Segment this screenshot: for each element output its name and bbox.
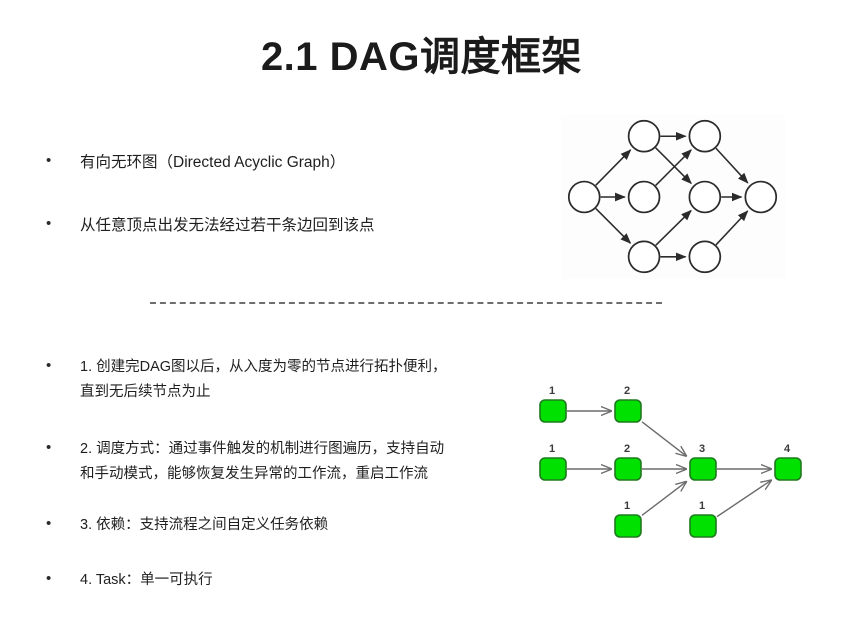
task-node: [540, 400, 566, 422]
dag-edge: [656, 211, 691, 246]
bullet-item-dag-definition: • 有向无环图（Directed Acyclic Graph）: [46, 150, 516, 175]
task-node-label: 4: [784, 443, 791, 455]
task-node: [615, 515, 641, 537]
section-divider: [150, 302, 662, 304]
bullet-text: 4. Task：单一可执行: [80, 568, 213, 593]
page-title: 2.1 DAG调度框架: [0, 24, 843, 82]
dag-graph-figure: [561, 115, 785, 279]
task-node: [775, 458, 801, 480]
bullet-marker-icon: •: [46, 355, 60, 377]
dag-node: [689, 182, 720, 213]
task-node-group: 12123411: [540, 385, 801, 537]
dag-node-group: [569, 121, 776, 272]
bullet-text: 3. 依赖：支持流程之间自定义任务依赖: [80, 513, 328, 538]
bullet-text: 1. 创建完DAG图以后，从入度为零的节点进行拓扑便利， 直到无后续节点为止: [80, 355, 447, 405]
bullet-text: 2. 调度方式：通过事件触发的机制进行图遍历，支持自动 和手动模式，能够恢复发生…: [80, 437, 444, 487]
task-node: [690, 515, 716, 537]
task-edge-group: [567, 411, 771, 517]
dag-node: [629, 121, 660, 152]
task-edge: [717, 480, 771, 516]
dag-node: [569, 182, 600, 213]
bullet-marker-icon: •: [46, 568, 60, 590]
dag-node: [629, 182, 660, 213]
dag-edge-group: [596, 136, 748, 257]
task-edge: [642, 422, 686, 456]
dag-edge: [656, 150, 692, 186]
bullet-marker-icon: •: [46, 513, 60, 535]
dag-edge: [656, 148, 692, 184]
dag-node: [689, 121, 720, 152]
task-node: [690, 458, 716, 480]
dag-edge: [596, 150, 631, 185]
bullet-marker-icon: •: [46, 213, 60, 235]
task-node: [615, 400, 641, 422]
bullet-text: 有向无环图（Directed Acyclic Graph）: [80, 150, 345, 175]
bullet-item-dependency: • 3. 依赖：支持流程之间自定义任务依赖: [46, 513, 526, 538]
task-node-label: 1: [549, 443, 555, 455]
task-node-label: 2: [624, 443, 630, 455]
dag-node: [745, 182, 776, 213]
bullet-item-task: • 4. Task：单一可执行: [46, 568, 526, 593]
bullet-item-scheduling-mode: • 2. 调度方式：通过事件触发的机制进行图遍历，支持自动 和手动模式，能够恢复…: [46, 437, 526, 487]
bullet-text: 从任意顶点出发无法经过若干条边回到该点: [80, 213, 375, 238]
dag-node: [629, 241, 660, 272]
task-node-label: 1: [624, 500, 630, 512]
task-node-label: 3: [699, 443, 705, 455]
dag-edge: [716, 211, 748, 245]
task-dependency-figure: 12123411: [524, 378, 824, 548]
task-node-label: 2: [624, 385, 630, 397]
dag-edge: [596, 209, 631, 244]
bullet-item-topological-traversal: • 1. 创建完DAG图以后，从入度为零的节点进行拓扑便利， 直到无后续节点为止: [46, 355, 526, 405]
bullet-item-no-cycle: • 从任意顶点出发无法经过若干条边回到该点: [46, 213, 516, 238]
task-dependency-svg: 12123411: [524, 378, 824, 548]
task-node: [615, 458, 641, 480]
task-node-label: 1: [699, 500, 705, 512]
bullet-marker-icon: •: [46, 150, 60, 172]
task-node: [540, 458, 566, 480]
slide-root: 2.1 DAG调度框架 • 有向无环图（Directed Acyclic Gra…: [0, 0, 843, 634]
bullet-marker-icon: •: [46, 437, 60, 459]
dag-graph-svg: [561, 115, 785, 279]
dag-node: [689, 241, 720, 272]
task-node-label: 1: [549, 385, 555, 397]
task-edge: [642, 482, 686, 515]
dag-edge: [716, 148, 748, 183]
